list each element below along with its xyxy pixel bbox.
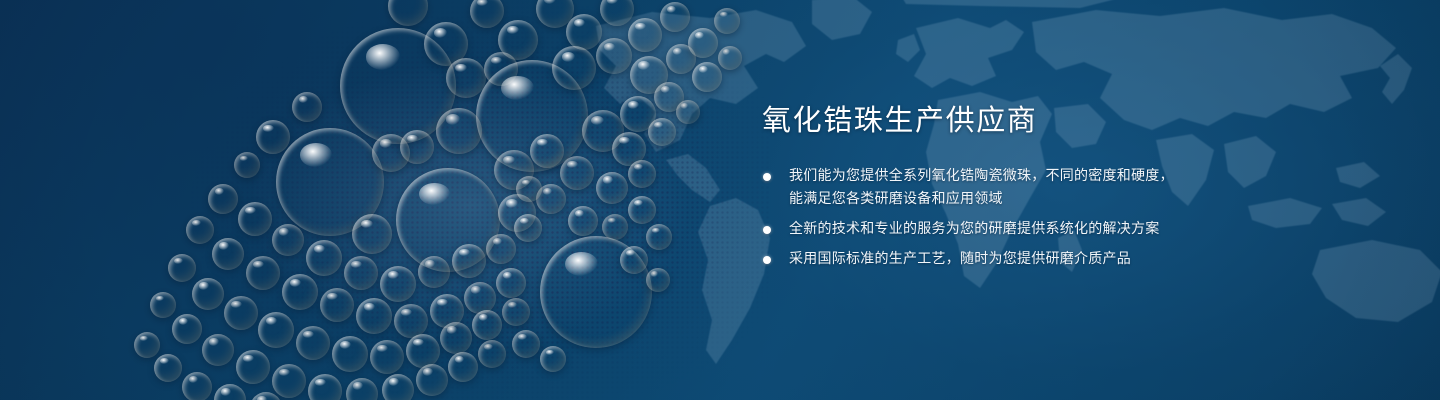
vignette-overlay [0, 0, 1440, 400]
hero-banner: 氧化锆珠生产供应商 我们能为您提供全系列氧化锆陶瓷微珠，不同的密度和硬度， 能满… [0, 0, 1440, 400]
